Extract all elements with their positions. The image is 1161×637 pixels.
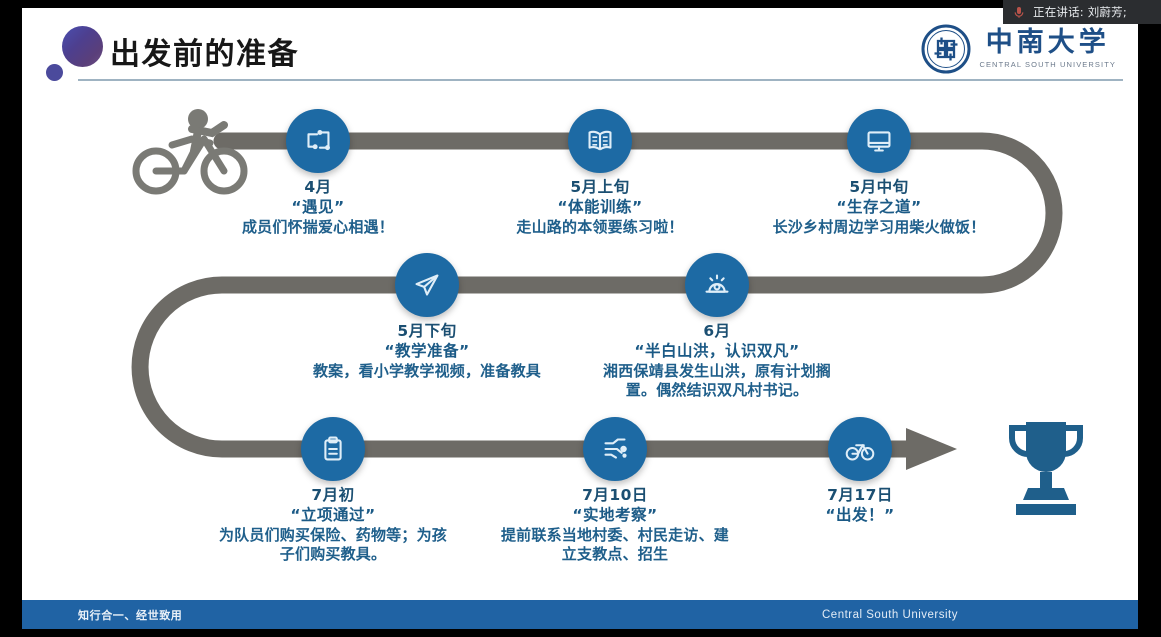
node-quote: “生存之道” bbox=[764, 197, 994, 217]
node-quote: “教学准备” bbox=[312, 341, 542, 361]
alarm-siren-icon bbox=[685, 253, 749, 317]
speaking-label: 正在讲话: 刘蔚芳; bbox=[1033, 4, 1127, 20]
node-quote: “出发！” bbox=[760, 505, 960, 525]
open-book-icon bbox=[568, 109, 632, 173]
circuit-nodes-icon bbox=[583, 417, 647, 481]
timeline-caption-2: 5月上旬 “体能训练” 走山路的本领要练习啦！ bbox=[500, 178, 700, 237]
timeline-node-4[interactable]: 5月下旬 “教学准备” 教案，看小学教学视频，准备教具 bbox=[312, 253, 542, 381]
network-share-icon bbox=[286, 109, 350, 173]
trophy-icon bbox=[1000, 416, 1092, 524]
node-date: 4月 bbox=[218, 178, 418, 197]
timeline-node-8[interactable]: 7月17日 “出发！” bbox=[760, 417, 960, 526]
timeline-caption-1: 4月 “遇见” 成员们怀揣爱心相遇！ bbox=[218, 178, 418, 237]
timeline-node-3[interactable]: 5月中旬 “生存之道” 长沙乡村周边学习用柴火做饭！ bbox=[764, 109, 994, 237]
node-desc: 走山路的本领要练习啦！ bbox=[500, 218, 700, 237]
timeline-node-5[interactable]: 6月 “半白山洪，认识双凡” 湘西保靖县发生山洪，原有计划搁置。偶然结识双凡村书… bbox=[592, 253, 842, 400]
node-date: 7月初 bbox=[218, 486, 448, 505]
timeline-node-7[interactable]: 7月10日 “实地考察” 提前联系当地村委、村民走访、建立支教点、招生 bbox=[500, 417, 730, 564]
node-desc: 教案，看小学教学视频，准备教具 bbox=[312, 362, 542, 381]
node-desc: 提前联系当地村委、村民走访、建立支教点、招生 bbox=[500, 526, 730, 564]
node-quote: “遇见” bbox=[218, 197, 418, 217]
footer-motto: 知行合一、经世致用 bbox=[78, 607, 182, 623]
microphone-icon bbox=[1012, 5, 1026, 19]
slide-footer: 知行合一、经世致用 Central South University bbox=[22, 600, 1138, 629]
node-date: 5月中旬 bbox=[764, 178, 994, 197]
node-desc: 成员们怀揣爱心相遇！ bbox=[218, 218, 418, 237]
timeline-node-1[interactable]: 4月 “遇见” 成员们怀揣爱心相遇！ bbox=[218, 109, 418, 237]
speaking-indicator-bar: 正在讲话: 刘蔚芳; bbox=[1003, 0, 1161, 24]
node-quote: “实地考察” bbox=[500, 505, 730, 525]
monitor-icon bbox=[847, 109, 911, 173]
timeline-caption-4: 5月下旬 “教学准备” 教案，看小学教学视频，准备教具 bbox=[312, 322, 542, 381]
timeline-caption-6: 7月初 “立项通过” 为队员们购买保险、药物等；为孩子们购买教具。 bbox=[218, 486, 448, 564]
timeline-caption-3: 5月中旬 “生存之道” 长沙乡村周边学习用柴火做饭！ bbox=[764, 178, 994, 237]
node-quote: “立项通过” bbox=[218, 505, 448, 525]
node-date: 7月10日 bbox=[500, 486, 730, 505]
footer-university: Central South University bbox=[822, 609, 958, 621]
timeline-node-6[interactable]: 7月初 “立项通过” 为队员们购买保险、药物等；为孩子们购买教具。 bbox=[218, 417, 448, 564]
timeline-caption-7: 7月10日 “实地考察” 提前联系当地村委、村民走访、建立支教点、招生 bbox=[500, 486, 730, 564]
timeline-node-2[interactable]: 5月上旬 “体能训练” 走山路的本领要练习啦！ bbox=[500, 109, 700, 237]
timeline-caption-8: 7月17日 “出发！” bbox=[760, 486, 960, 526]
node-date: 5月上旬 bbox=[500, 178, 700, 197]
bicycle-icon bbox=[828, 417, 892, 481]
clipboard-icon bbox=[301, 417, 365, 481]
node-desc: 长沙乡村周边学习用柴火做饭！ bbox=[764, 218, 994, 237]
screen: 出发前的准备 中南大学 CENTRAL SOUTH UNIVERSITY bbox=[0, 0, 1161, 637]
node-quote: “体能训练” bbox=[500, 197, 700, 217]
node-desc: 湘西保靖县发生山洪，原有计划搁置。偶然结识双凡村书记。 bbox=[592, 362, 842, 400]
node-quote: “半白山洪，认识双凡” bbox=[592, 341, 842, 361]
node-date: 5月下旬 bbox=[312, 322, 542, 341]
node-date: 7月17日 bbox=[760, 486, 960, 505]
node-desc: 为队员们购买保险、药物等；为孩子们购买教具。 bbox=[218, 526, 448, 564]
slide-canvas: 出发前的准备 中南大学 CENTRAL SOUTH UNIVERSITY bbox=[22, 8, 1138, 629]
paper-plane-icon bbox=[395, 253, 459, 317]
node-date: 6月 bbox=[592, 322, 842, 341]
timeline-caption-5: 6月 “半白山洪，认识双凡” 湘西保靖县发生山洪，原有计划搁置。偶然结识双凡村书… bbox=[592, 322, 842, 400]
